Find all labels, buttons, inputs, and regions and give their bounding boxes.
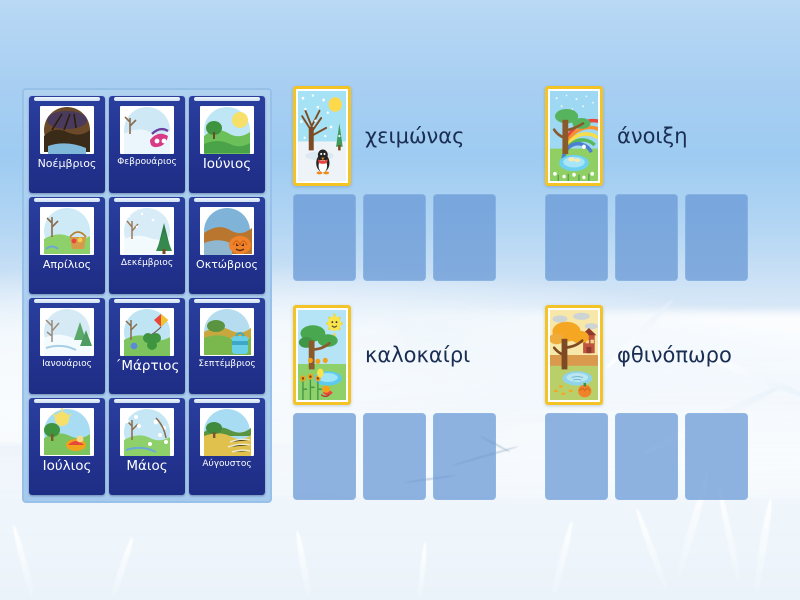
snow-grass-blade <box>634 508 668 589</box>
month-card-label: Απρίλιος <box>43 259 91 270</box>
drop-slot[interactable] <box>545 413 608 500</box>
month-card-label: Νοέμβριος <box>38 158 97 169</box>
month-card[interactable]: Μάιος <box>109 398 185 495</box>
month-card[interactable]: Απρίλιος <box>29 197 105 294</box>
month-card[interactable]: Δεκέμβριος <box>109 197 185 294</box>
month-card-label: Σεπτέμβριος <box>198 360 255 369</box>
month-card[interactable]: ΄Μάρτιος <box>109 298 185 395</box>
season-header: άνοιξη <box>545 86 748 186</box>
month-card-label: Ιούνιος <box>203 158 251 172</box>
season-label-autumn: φθινόπωρο <box>617 343 732 367</box>
drop-slot[interactable] <box>293 194 356 281</box>
winter-scene-icon <box>293 86 351 186</box>
drop-slot[interactable] <box>545 194 608 281</box>
month-card-label: Δεκέμβριος <box>121 259 173 268</box>
season-label-spring: άνοιξη <box>617 124 688 148</box>
month-cards-tray: ΝοέμβριοςΦεβρουάριοςΙούνιοςΑπρίλιοςΔεκέμ… <box>22 88 272 503</box>
season-label-summer: καλοκαίρι <box>365 343 470 367</box>
drop-slot[interactable] <box>615 194 678 281</box>
carnival-mask-snow-icon <box>120 106 174 154</box>
month-card-label: Μάιος <box>126 460 167 474</box>
month-card-label: Ιανουάριος <box>42 360 92 369</box>
snow-grass-blade <box>551 520 575 593</box>
christmas-tree-snow-icon <box>120 207 174 255</box>
drop-slots-winter <box>293 194 496 281</box>
snow-grass-blade <box>294 530 311 596</box>
month-card[interactable]: Αύγουστος <box>189 398 265 495</box>
green-hills-sun-icon <box>200 106 254 154</box>
season-header: φθινόπωρο <box>545 305 748 405</box>
season-label-winter: χειμώνας <box>365 124 464 148</box>
month-card[interactable]: Σεπτέμβριος <box>189 298 265 395</box>
drop-slot[interactable] <box>363 413 426 500</box>
drop-slots-spring <box>545 194 748 281</box>
month-card[interactable]: Ιούλιος <box>29 398 105 495</box>
month-card[interactable]: Οκτώβριος <box>189 197 265 294</box>
month-card-label: Φεβρουάριος <box>117 158 177 167</box>
snow-grass-blade <box>417 542 428 598</box>
pumpkin-autumn-field-icon <box>200 207 254 255</box>
snow-grass-blade <box>111 537 135 596</box>
autumn-scene-icon <box>545 305 603 405</box>
drop-slot[interactable] <box>363 194 426 281</box>
snow-grass-blade <box>716 486 742 581</box>
summer-beach-sun-icon <box>40 408 94 456</box>
season-group-summer: καλοκαίρι <box>293 305 496 500</box>
spring-scene-icon <box>545 86 603 186</box>
wheat-field-summer-icon <box>200 408 254 456</box>
season-group-autumn: φθινόπωρο <box>545 305 748 500</box>
month-card[interactable]: Ιανουάριος <box>29 298 105 395</box>
season-group-winter: χειμώνας <box>293 86 496 281</box>
snow-grass-blade <box>753 498 774 590</box>
snowy-bare-tree-pines-icon <box>40 308 94 356</box>
drop-slot[interactable] <box>433 413 496 500</box>
drop-slot[interactable] <box>293 413 356 500</box>
drop-slots-summer <box>293 413 496 500</box>
month-card[interactable]: Φεβρουάριος <box>109 96 185 193</box>
summer-scene-icon <box>293 305 351 405</box>
month-card[interactable]: Νοέμβριος <box>29 96 105 193</box>
season-header: χειμώνας <box>293 86 496 186</box>
month-card-label: Οκτώβριος <box>196 259 258 270</box>
snow-grass-blade <box>11 524 35 595</box>
season-group-spring: άνοιξη <box>545 86 748 281</box>
season-header: καλοκαίρι <box>293 305 496 405</box>
spring-blossom-meadow-icon <box>120 408 174 456</box>
school-bag-field-icon <box>200 308 254 356</box>
easter-basket-meadow-icon <box>40 207 94 255</box>
drop-slot[interactable] <box>433 194 496 281</box>
drop-slot[interactable] <box>615 413 678 500</box>
drop-slot[interactable] <box>685 413 748 500</box>
month-card-label: Ιούλιος <box>43 460 92 474</box>
autumn-dark-trees-river-icon <box>40 106 94 154</box>
month-card[interactable]: Ιούνιος <box>189 96 265 193</box>
month-card-label: ΄Μάρτιος <box>115 360 180 374</box>
drop-slot[interactable] <box>685 194 748 281</box>
drop-slots-autumn <box>545 413 748 500</box>
month-card-label: Αύγουστος <box>202 460 251 469</box>
march-kite-clover-icon <box>120 308 174 356</box>
